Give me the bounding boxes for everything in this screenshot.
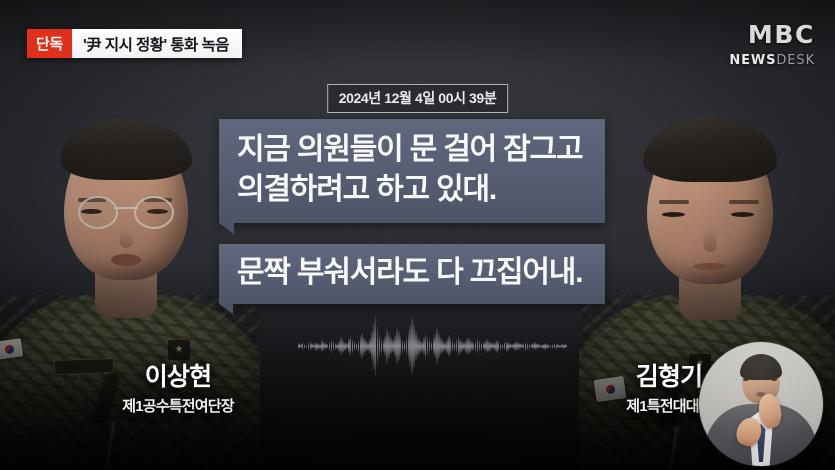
headline-bar: 단독 '尹 지시 정황' 통화 녹음 <box>27 29 242 58</box>
audio-waveform <box>298 306 568 386</box>
broadcast-screen: ★ ★ 단독 '尹 지시 정황' 통화 녹음 MBC <box>0 0 835 470</box>
waveform-bar <box>504 342 506 350</box>
speaker-title-left: 제1공수특전여단장 <box>78 399 278 414</box>
waveform-bar <box>333 341 335 351</box>
waveform-bar <box>381 338 383 354</box>
subtitle-bubble-2: 문짝 부숴서라도 다 끄집어내. <box>219 244 605 304</box>
nameplate-left: 이상현 제1공수특전여단장 <box>78 365 278 414</box>
waveform-bar <box>406 337 408 356</box>
sign-language-interpreter <box>699 342 823 466</box>
waveform-bar <box>431 341 433 351</box>
subtitle-line: 의결하려고 하고 있대. <box>237 170 587 210</box>
headline-text: '尹 지시 정황' 통화 녹음 <box>72 29 242 58</box>
timestamp-chip: 2024년 12월 4일 00시 39분 <box>327 84 509 113</box>
waveform-bar <box>529 344 531 349</box>
subtitle-line: 문짝 부숴서라도 다 끄집어내. <box>237 253 587 293</box>
interpreter-light-glow <box>699 342 823 466</box>
mbc-logo: MBC <box>729 22 815 47</box>
subtitle-group: 지금 의원들이 문 걸어 잠그고 의결하려고 하고 있대. 문짝 부숴서라도 다… <box>219 119 605 304</box>
waveform-bar <box>358 340 360 353</box>
waveform-bar <box>308 343 310 350</box>
program-name-light: DESK <box>776 53 815 68</box>
subtitle-bubble-1: 지금 의원들이 문 걸어 잠그고 의결하려고 하고 있대. <box>219 119 605 223</box>
waveform-bar <box>565 344 567 348</box>
subtitle-line: 지금 의원들이 문 걸어 잠그고 <box>237 130 587 170</box>
waveform-bar <box>554 343 556 349</box>
waveform-bar <box>456 339 458 353</box>
program-name: NEWSDESK <box>729 54 815 67</box>
exclusive-badge: 단독 <box>27 29 72 58</box>
network-bug: MBC NEWSDESK <box>729 22 815 67</box>
program-name-bold: NEWS <box>729 53 776 68</box>
waveform-bar <box>481 342 483 351</box>
speaker-name-left: 이상현 <box>78 365 278 390</box>
